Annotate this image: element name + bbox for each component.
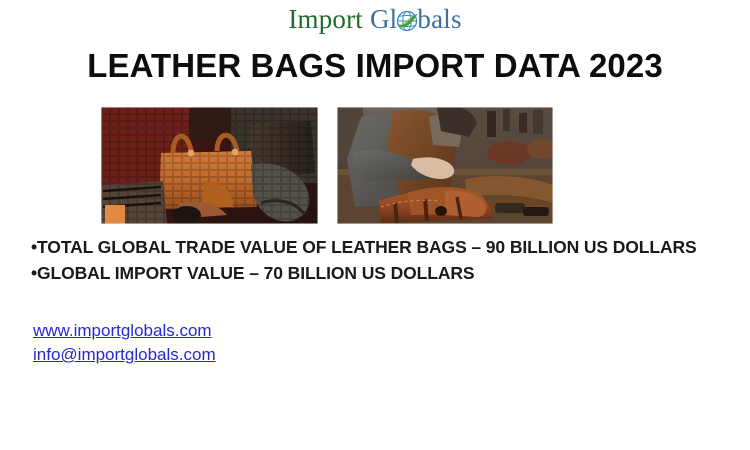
crocodile-leather-bags-photo: [101, 107, 318, 224]
bullet-text: TOTAL GLOBAL TRADE VALUE OF LEATHER BAGS…: [37, 237, 697, 257]
logo-word-globals-suffix: bals: [417, 4, 461, 34]
logo-text: Import Gl bals: [288, 4, 461, 34]
leather-craftsman-photo: [337, 107, 553, 224]
logo-word-globals-prefix: Gl: [370, 4, 397, 34]
bullet-text: GLOBAL IMPORT VALUE – 70 BILLION US DOLL…: [37, 263, 474, 283]
statistics-list: •TOTAL GLOBAL TRADE VALUE OF LEATHER BAG…: [31, 234, 731, 286]
logo-word-import: Import: [288, 4, 363, 34]
bullet-item-total-trade-value: •TOTAL GLOBAL TRADE VALUE OF LEATHER BAG…: [31, 234, 731, 260]
email-link[interactable]: info@importglobals.com: [33, 343, 216, 367]
page-title: LEATHER BAGS IMPORT DATA 2023: [0, 46, 750, 86]
contact-details: www.importglobals.com info@importglobals…: [33, 319, 216, 367]
globe-icon: [396, 8, 418, 30]
website-link[interactable]: www.importglobals.com: [33, 319, 216, 343]
brand-logo: Import Gl bals: [0, 4, 750, 38]
bullet-item-global-import-value: •GLOBAL IMPORT VALUE – 70 BILLION US DOL…: [31, 260, 731, 286]
